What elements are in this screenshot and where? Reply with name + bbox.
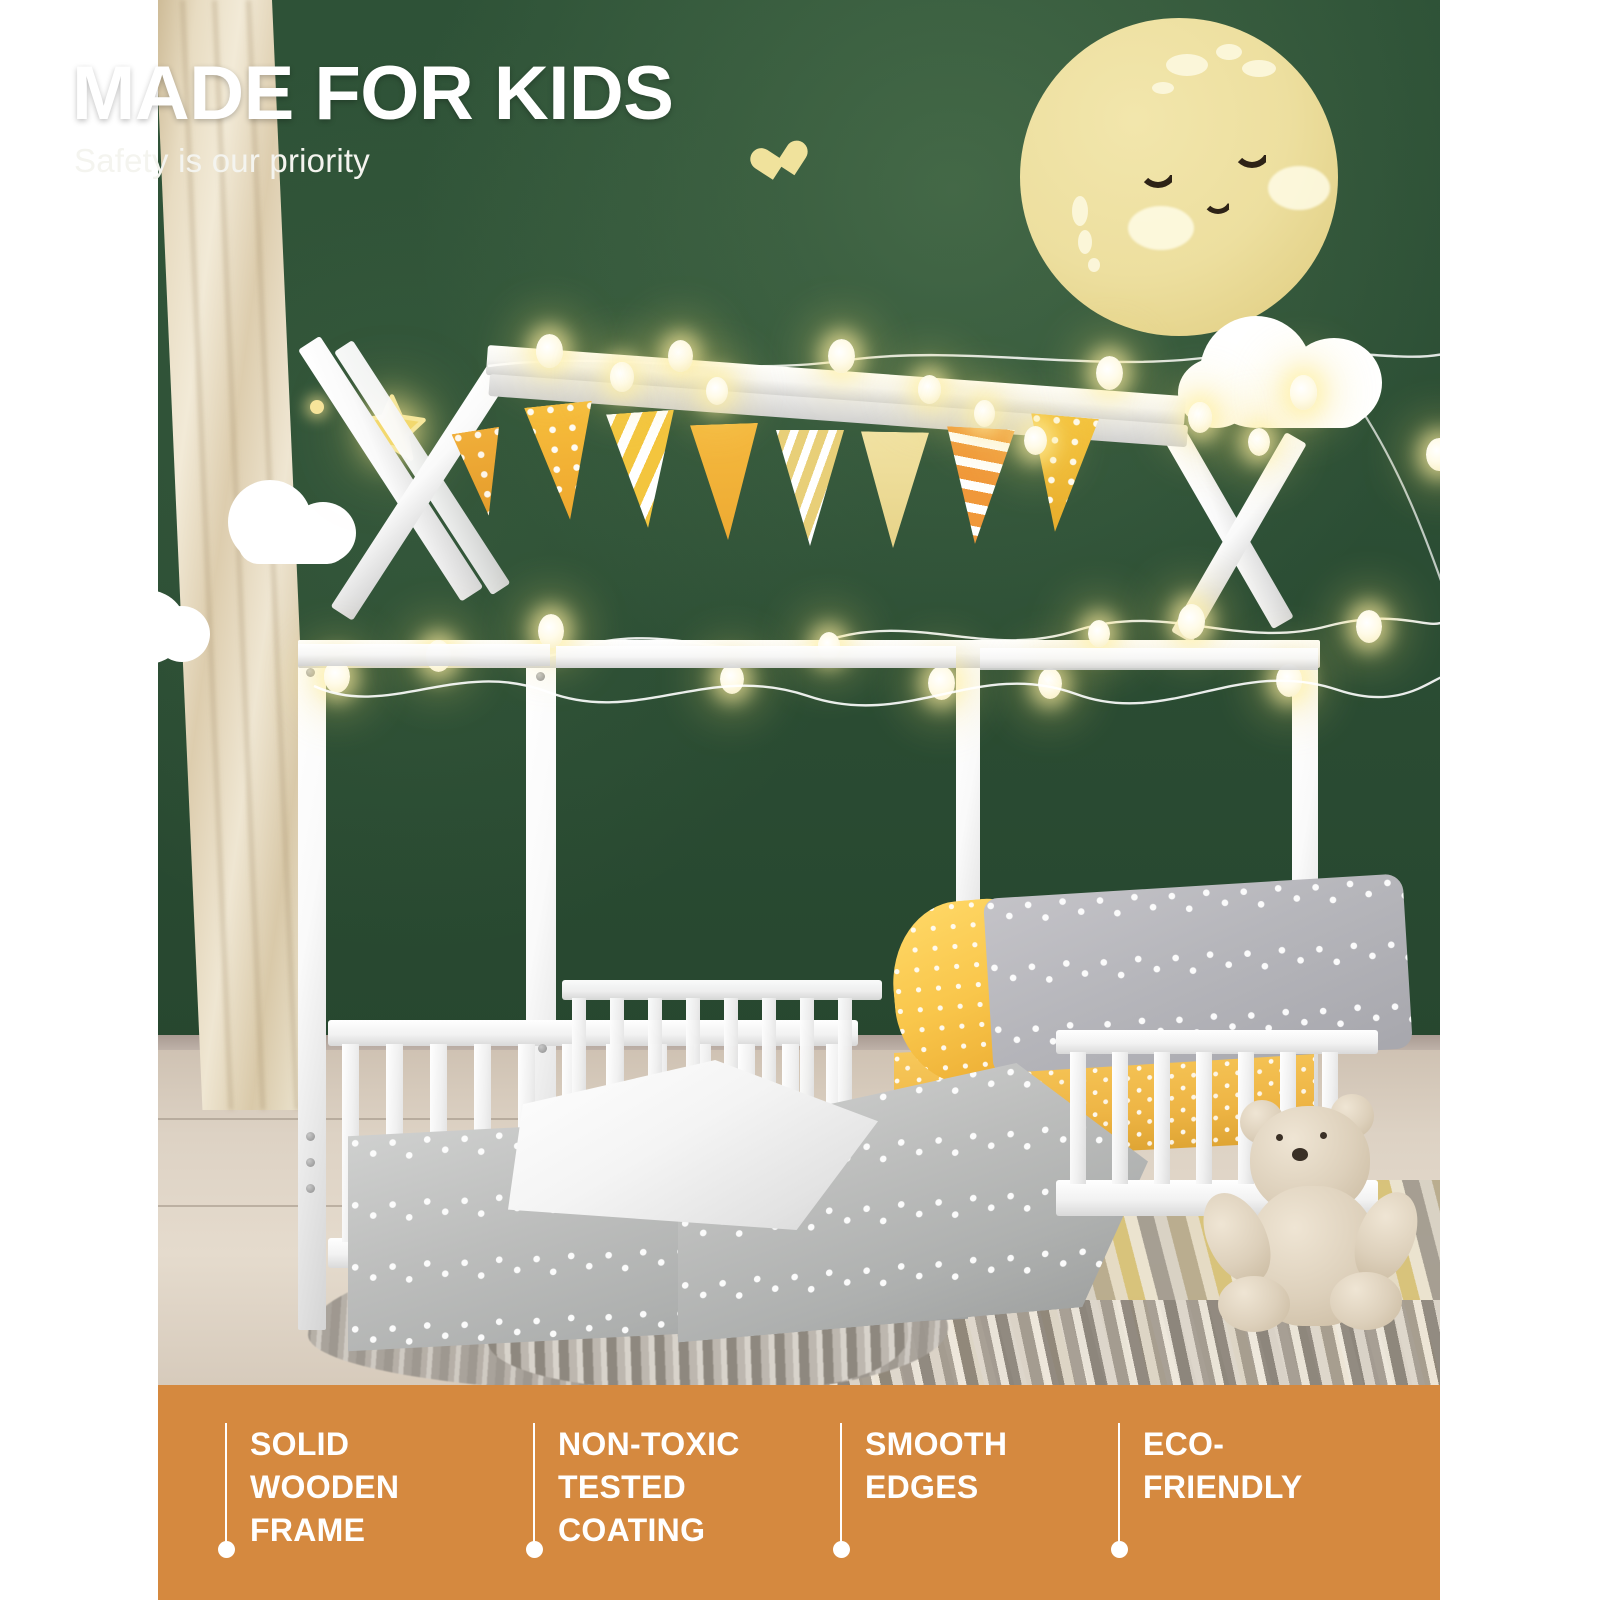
cloud-icon <box>158 590 228 660</box>
feature-item-smooth-edges[interactable]: SMOOTH EDGES <box>833 1423 1007 1559</box>
pin-marker-icon <box>218 1423 234 1559</box>
beam-highlight <box>980 648 1318 670</box>
heart-icon <box>756 142 803 187</box>
feature-label: NON-TOXIC TESTED COATING <box>558 1423 740 1553</box>
product-photo-panel <box>158 0 1440 1600</box>
feature-label: SOLID WOODEN FRAME <box>250 1423 399 1553</box>
cloud-icon <box>228 480 378 560</box>
product-banner: MADE FOR KIDS Safety is our priority SOL… <box>0 0 1600 1600</box>
page-title: MADE FOR KIDS <box>72 56 674 132</box>
moon-eye-left <box>1138 166 1178 188</box>
page-subtitle: Safety is our priority <box>74 142 370 180</box>
pin-marker-icon <box>833 1423 849 1559</box>
sparkle-dot-icon <box>310 400 324 414</box>
bed-post-front-left <box>298 640 326 1330</box>
moon-eye-right <box>1232 146 1272 168</box>
feature-item-eco-friendly[interactable]: ECO- FRIENDLY <box>1111 1423 1302 1559</box>
beam-highlight <box>556 646 956 668</box>
feature-bar: SOLID WOODEN FRAME NON-TOXIC TESTED COAT… <box>158 1385 1440 1600</box>
feature-item-non-toxic-tested-coating[interactable]: NON-TOXIC TESTED COATING <box>526 1423 740 1559</box>
feature-label: SMOOTH EDGES <box>865 1423 1007 1509</box>
moon-icon <box>1020 18 1338 336</box>
moon-mouth <box>1202 196 1234 214</box>
feature-label: ECO- FRIENDLY <box>1143 1423 1302 1509</box>
beam-highlight <box>298 644 550 666</box>
feature-item-solid-wooden-frame[interactable]: SOLID WOODEN FRAME <box>218 1423 399 1559</box>
pin-marker-icon <box>526 1423 542 1559</box>
pin-marker-icon <box>1111 1423 1127 1559</box>
